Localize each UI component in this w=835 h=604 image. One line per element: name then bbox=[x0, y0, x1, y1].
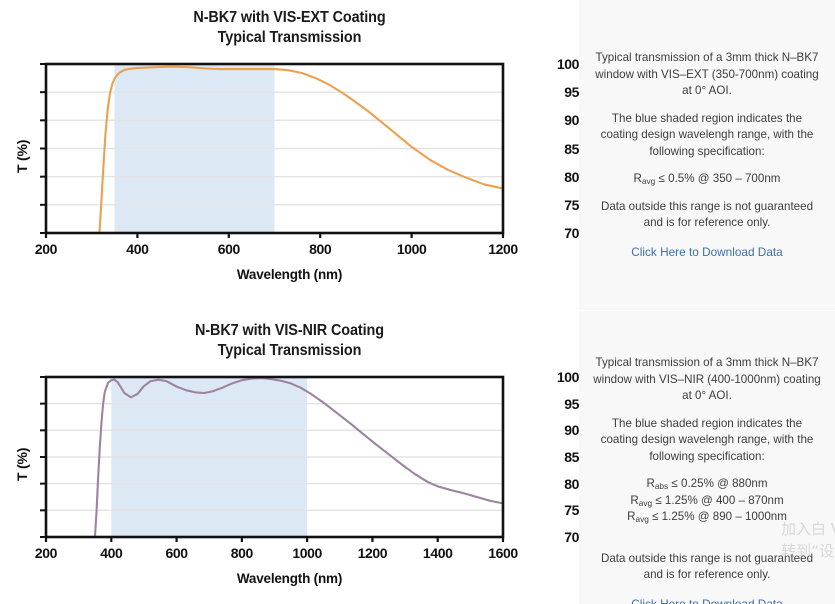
x-tick-label: 1400 bbox=[423, 545, 453, 561]
description-paragraph-2: The blue shaded region indicates the coa… bbox=[593, 416, 821, 466]
panel-vis-nir: N-BK7 with VIS-NIR Coating Typical Trans… bbox=[0, 311, 835, 604]
chart-title-line2: Typical Transmission bbox=[20, 341, 558, 361]
x-tick-label: 1600 bbox=[488, 545, 518, 561]
y-tick-label: 85 bbox=[543, 141, 579, 157]
panel-vis-ext: N-BK7 with VIS-EXT Coating Typical Trans… bbox=[0, 0, 835, 310]
x-axis-label-vis-nir: Wavelength (nm) bbox=[0, 571, 579, 586]
x-tick-label: 200 bbox=[35, 545, 57, 561]
y-tick-label: 95 bbox=[543, 84, 579, 100]
download-data-link[interactable]: Click Here to Download Data bbox=[631, 597, 782, 604]
specification-line: Ravg ≤ 1.25% @ 400 – 870nm bbox=[593, 493, 821, 510]
plot-svg-vis-nir bbox=[0, 363, 579, 604]
x-tick-label: 600 bbox=[218, 241, 240, 257]
specification-line: Rabs ≤ 0.25% @ 880nm bbox=[593, 476, 821, 493]
description-paragraph-1: Typical transmission of a 3mm thick N–BK… bbox=[593, 355, 821, 405]
chart-cell-vis-nir: N-BK7 with VIS-NIR Coating Typical Trans… bbox=[0, 311, 579, 604]
chart-title-line1: N-BK7 with VIS-EXT Coating bbox=[20, 8, 558, 28]
download-data-link[interactable]: Click Here to Download Data bbox=[631, 245, 782, 259]
x-tick-label: 1000 bbox=[292, 545, 322, 561]
y-tick-label: 75 bbox=[543, 197, 579, 213]
x-tick-label: 1200 bbox=[488, 241, 518, 257]
y-axis-label-vis-nir: T (%) bbox=[14, 448, 30, 481]
y-tick-label: 100 bbox=[543, 369, 579, 385]
description-cell-vis-ext: Typical transmission of a 3mm thick N–BK… bbox=[579, 0, 835, 310]
x-tick-label: 800 bbox=[309, 241, 331, 257]
x-tick-label: 600 bbox=[165, 545, 187, 561]
specification-line: Ravg ≤ 0.5% @ 350 – 700nm bbox=[593, 171, 821, 188]
plot-area-vis-nir: T (%) Wavelength (nm) 100959085807570200… bbox=[0, 363, 579, 604]
y-tick-label: 95 bbox=[543, 396, 579, 412]
x-tick-label: 1200 bbox=[358, 545, 388, 561]
y-tick-label: 85 bbox=[543, 449, 579, 465]
specification-list-vis-nir: Rabs ≤ 0.25% @ 880nmRavg ≤ 1.25% @ 400 –… bbox=[593, 476, 821, 526]
x-tick-label: 400 bbox=[126, 241, 148, 257]
y-tick-label: 90 bbox=[543, 422, 579, 438]
x-tick-label: 400 bbox=[100, 545, 122, 561]
specification-list-vis-ext: Ravg ≤ 0.5% @ 350 – 700nm bbox=[593, 171, 821, 188]
y-tick-label: 100 bbox=[543, 56, 579, 72]
chart-title-line2: Typical Transmission bbox=[20, 28, 558, 48]
y-tick-label: 80 bbox=[543, 169, 579, 185]
description-cell-vis-nir: Typical transmission of a 3mm thick N–BK… bbox=[579, 311, 835, 604]
y-tick-label: 75 bbox=[543, 502, 579, 518]
x-tick-label: 200 bbox=[35, 241, 57, 257]
x-axis-label-vis-ext: Wavelength (nm) bbox=[0, 267, 579, 282]
description-paragraph-3: Data outside this range is not guarantee… bbox=[593, 199, 821, 232]
y-tick-label: 90 bbox=[543, 112, 579, 128]
y-tick-label: 70 bbox=[543, 529, 579, 545]
description-paragraph-1: Typical transmission of a 3mm thick N–BK… bbox=[593, 50, 821, 100]
chart-title-line1: N-BK7 with VIS-NIR Coating bbox=[20, 321, 558, 341]
page-root: N-BK7 with VIS-EXT Coating Typical Trans… bbox=[0, 0, 835, 604]
y-axis-label-vis-ext: T (%) bbox=[14, 139, 30, 172]
chart-title-vis-ext: N-BK7 with VIS-EXT Coating Typical Trans… bbox=[20, 8, 558, 48]
description-paragraph-2: The blue shaded region indicates the coa… bbox=[593, 111, 821, 161]
x-tick-label: 1000 bbox=[397, 241, 427, 257]
chart-title-vis-nir: N-BK7 with VIS-NIR Coating Typical Trans… bbox=[20, 321, 558, 361]
y-tick-label: 70 bbox=[543, 225, 579, 241]
plot-area-vis-ext: T (%) Wavelength (nm) 100959085807570200… bbox=[0, 50, 579, 305]
y-tick-label: 80 bbox=[543, 476, 579, 492]
chart-cell-vis-ext: N-BK7 with VIS-EXT Coating Typical Trans… bbox=[0, 0, 579, 310]
description-paragraph-3: Data outside this range is not guarantee… bbox=[593, 551, 821, 584]
x-tick-label: 800 bbox=[231, 545, 253, 561]
specification-line: Ravg ≤ 1.25% @ 890 – 1000nm bbox=[593, 509, 821, 526]
